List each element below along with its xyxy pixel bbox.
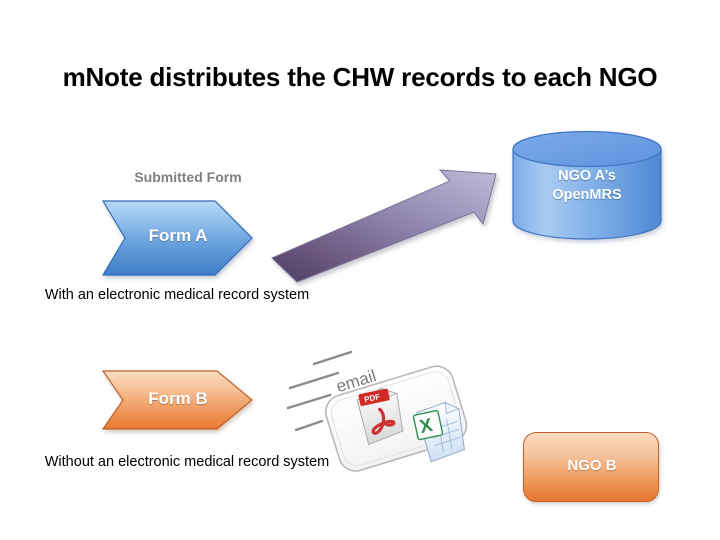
form-a-chevron-path — [103, 201, 252, 275]
ngo-b-box: NGO B — [523, 432, 659, 502]
slide-canvas: mNote distributes the CHW records to eac… — [0, 0, 720, 540]
ngo-b-label: NGO B — [524, 457, 660, 474]
form-a-chevron: Form A — [103, 200, 253, 276]
form-a-caption: With an electronic medical record system — [27, 285, 327, 306]
form-b-chevron: Form B — [103, 370, 253, 430]
form-b-chevron-path — [103, 371, 252, 429]
cylinder-top — [513, 132, 661, 167]
email-graphic: PDF X email — [288, 348, 488, 488]
submitted-form-label: Submitted Form — [113, 169, 263, 185]
database-cylinder-icon: NGO A’s OpenMRS — [512, 131, 662, 239]
page-title: mNote distributes the CHW records to eac… — [0, 62, 720, 93]
right-arrow-icon — [268, 168, 513, 284]
right-arrow-path — [272, 170, 496, 282]
